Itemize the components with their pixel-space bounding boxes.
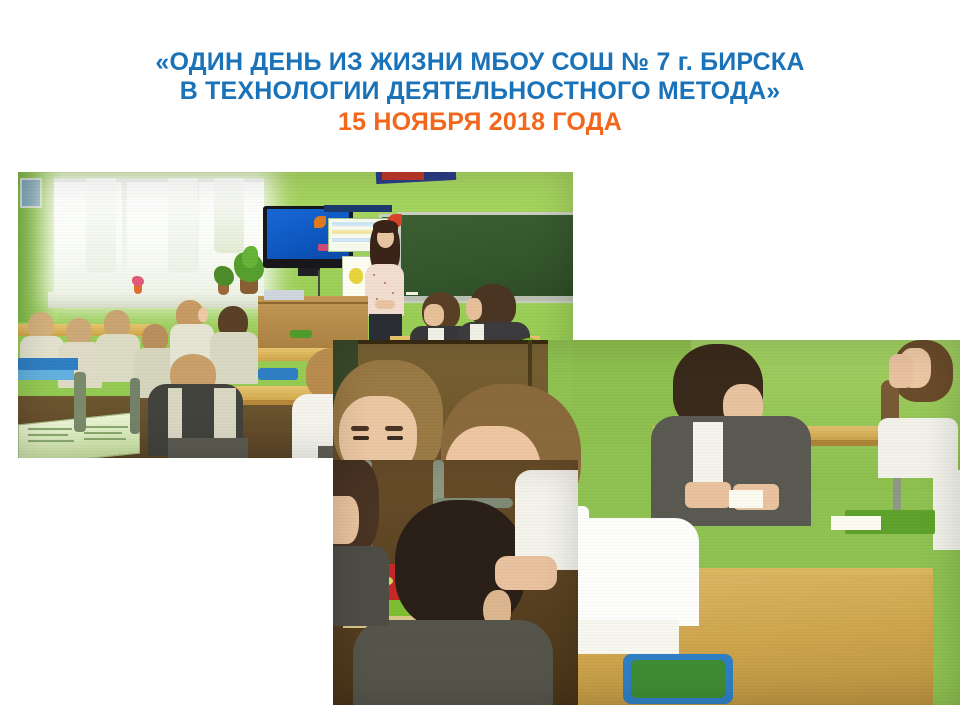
pupil-girl-blouse <box>878 418 958 478</box>
pupil-bg-shirt <box>693 422 723 486</box>
pupil-bg-jacket <box>651 416 811 526</box>
pupil-left-eyebrow-l <box>351 426 369 431</box>
pencil-case-blue-3 <box>18 358 78 370</box>
pupil-front-jacket <box>353 620 553 705</box>
chair-back-2 <box>130 378 140 434</box>
pupil-far-right-shirt <box>933 470 960 550</box>
window-curtain-1 <box>86 178 116 273</box>
plant-green-3 <box>242 246 258 268</box>
pupil-vest-trousers <box>168 438 248 458</box>
window-curtain-3 <box>214 178 244 253</box>
pupil-body-6 <box>210 332 258 384</box>
pencil-case-front-graphic <box>631 660 725 698</box>
tv-cable <box>318 270 320 296</box>
photo-pupils-closeup-foreground <box>333 460 578 705</box>
pupil-girl-hand <box>889 354 913 388</box>
pupil-front-right-sleeve <box>515 470 578 570</box>
pupil-face-5 <box>198 308 208 322</box>
pupil-bg-hand-left <box>685 482 731 508</box>
lemon-illustration <box>349 268 363 284</box>
pupil-face-blazer-1 <box>424 304 444 326</box>
pupil-vest-shirt-right <box>214 388 236 444</box>
paper-on-desk-bg <box>831 516 881 530</box>
window-curtain-2 <box>168 178 198 273</box>
pupil-front-left-jacket <box>333 546 389 626</box>
slide-root: «ОДИН ДЕНЬ ИЗ ЖИЗНИ МБОУ СОШ № 7 г. БИРС… <box>0 0 960 720</box>
title-line-2: В ТЕХНОЛОГИИ ДЕЯТЕЛЬНОСТНОГО МЕТОДА» <box>0 77 960 106</box>
chair-back-1 <box>74 372 86 432</box>
poster-heading <box>324 205 392 212</box>
title-line-3-date: 15 НОЯБРЯ 2018 ГОДА <box>0 108 960 137</box>
laptop-on-cabinet <box>264 290 304 300</box>
title-line-1: «ОДИН ДЕНЬ ИЗ ЖИЗНИ МБОУ СОШ № 7 г. БИРС… <box>0 48 960 77</box>
plant-green-1 <box>214 266 234 286</box>
chalk-piece-1 <box>406 292 418 295</box>
plant-pink <box>132 276 144 286</box>
pupil-left-eye-r <box>387 436 403 440</box>
pupil-left-eyebrow-r <box>385 426 403 431</box>
teacher-hands <box>375 300 395 309</box>
window-sill <box>48 292 273 308</box>
window-mullion-1 <box>122 178 127 298</box>
partition-top-edge <box>333 340 548 344</box>
pencil-case-blue-1 <box>258 368 298 380</box>
pupil-face-blazer-2 <box>466 298 482 320</box>
pupil-front-left-face <box>333 496 359 544</box>
decor-leaf-1 <box>314 216 326 228</box>
pencil-case-blue-3-lid <box>18 370 74 380</box>
cabinet-top-edge <box>258 302 368 304</box>
pupil-left-eye-l <box>353 436 369 440</box>
tv-stand <box>298 268 320 276</box>
pupil-front-right-hand <box>495 556 557 590</box>
wall-picture <box>20 178 42 208</box>
page-title: «ОДИН ДЕНЬ ИЗ ЖИЗНИ МБОУ СОШ № 7 г. БИРС… <box>0 48 960 137</box>
green-object-desk <box>290 330 312 338</box>
paper-in-hands-bg <box>729 490 763 508</box>
teacher-fringe <box>373 220 398 233</box>
wall-banner-text <box>382 172 424 180</box>
